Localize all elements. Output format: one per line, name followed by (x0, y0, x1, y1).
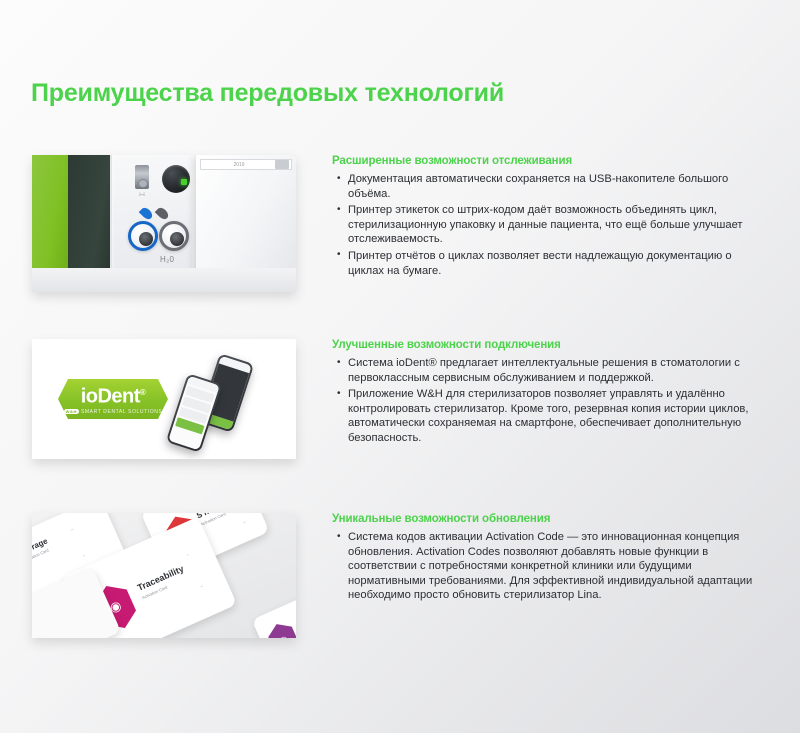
list-item: Принтер отчётов о циклах позволяет вести… (332, 249, 768, 278)
upgrades-heading: Уникальные возможности обновления (332, 513, 768, 525)
upgrades-bullet-list: Система кодов активации Activation Code … (332, 530, 768, 603)
dark-side-panel (68, 155, 110, 268)
app-list-panel (168, 383, 217, 450)
connectivity-bullet-list: Система ioDent® предлагает интеллектуаль… (332, 356, 768, 446)
status-led-indicator (181, 179, 187, 185)
list-item: Принтер этикеток со штрих-кодом даёт воз… (332, 203, 768, 247)
activation-card-purple: ◉ (252, 583, 296, 638)
water-inlet-port (128, 221, 158, 251)
hex-outline-icon (60, 524, 96, 562)
usb-port-icon (135, 165, 149, 189)
iodent-logo-name: ioDent® (81, 383, 146, 407)
registered-icon: ® (140, 388, 145, 397)
iodent-illustration: ioDent® W&HSMART DENTAL SOLUTIONS (32, 339, 296, 459)
connectivity-heading: Улучшенные возможности подключения (332, 339, 768, 351)
iodent-app-logo-image: ioDent® W&HSMART DENTAL SOLUTIONS (32, 339, 296, 459)
list-item: Документация автоматически сохраняется н… (332, 172, 768, 201)
list-item: Система ioDent® предлагает интеллектуаль… (332, 356, 768, 385)
door-display: 2019 (200, 159, 292, 170)
connectivity-text-block: Улучшенные возможности подключения Систе… (332, 339, 768, 448)
hex-icon-purple: ◉ (263, 618, 296, 638)
sterilizer-illustration: ∺ H₂0 2019 (32, 155, 296, 292)
tracking-bullet-list: Документация автоматически сохраняется н… (332, 172, 768, 278)
sterilizer-connection-panel-image: ∺ H₂0 2019 (32, 155, 296, 292)
list-item: Система кодов активации Activation Code … (332, 530, 768, 603)
page-title: Преимущества передовых технологий (31, 79, 504, 108)
iodent-logo-tagline: W&HSMART DENTAL SOLUTIONS (64, 409, 163, 415)
usb-symbol-icon: ∺ (133, 191, 151, 198)
activation-cards-illustration: Storage Activation Card ◉ S naked Activa… (32, 513, 296, 638)
sterilizer-base (32, 268, 296, 292)
app-screen-list (168, 376, 219, 451)
tracking-text-block: Расширенные возможности отслеживания Док… (332, 155, 768, 280)
wh-badge: W&H (64, 409, 79, 414)
water-label: H₂0 (160, 255, 174, 264)
green-side-panel (32, 155, 68, 268)
door-display-right: 2019 (233, 162, 244, 168)
list-item: Приложение W&H для стерилизаторов позвол… (332, 387, 768, 445)
iodent-logo: ioDent® W&HSMART DENTAL SOLUTIONS (58, 379, 168, 419)
water-outlet-port (159, 221, 189, 251)
upgrades-text-block: Уникальные возможности обновления Систем… (332, 513, 768, 605)
door-display-badge (275, 160, 289, 169)
activation-cards-image: Storage Activation Card ◉ S naked Activa… (32, 513, 296, 638)
tracking-heading: Расширенные возможности отслеживания (332, 155, 768, 167)
sterilizer-door: 2019 (196, 155, 296, 280)
